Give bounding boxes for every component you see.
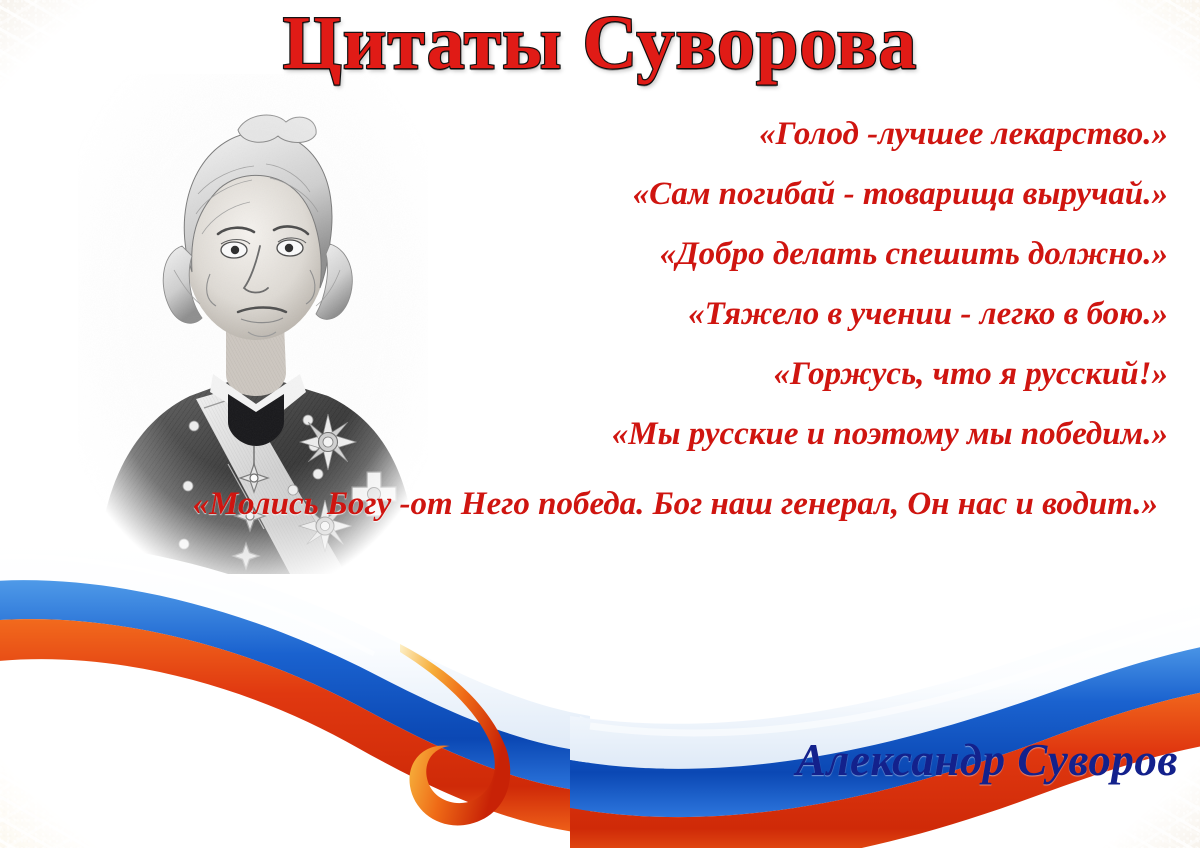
quotes-list: «Голод -лучшее лекарство.» «Сам погибай … <box>330 118 1168 531</box>
quote-item: «Мы русские и поэтому мы победим.» <box>330 418 1168 451</box>
quote-item: «Голод -лучшее лекарство.» <box>330 118 1168 151</box>
page-title: Цитаты Суворова <box>0 4 1200 84</box>
quote-item: «Горжусь, что я русский!» <box>330 358 1168 391</box>
author-signature: Александр Суворов <box>796 734 1178 786</box>
quote-item: «Молись Богу -от Него победа. Бог наш ге… <box>68 478 1158 531</box>
quote-item: «Сам погибай - товарища выручай.» <box>330 178 1168 211</box>
quote-item: «Тяжело в учении - легко в бою.» <box>330 298 1168 331</box>
quote-item: «Добро делать спешить должно.» <box>330 238 1168 271</box>
poster-canvas: Цитаты Суворова «Голод -лучшее лекарство… <box>0 0 1200 848</box>
